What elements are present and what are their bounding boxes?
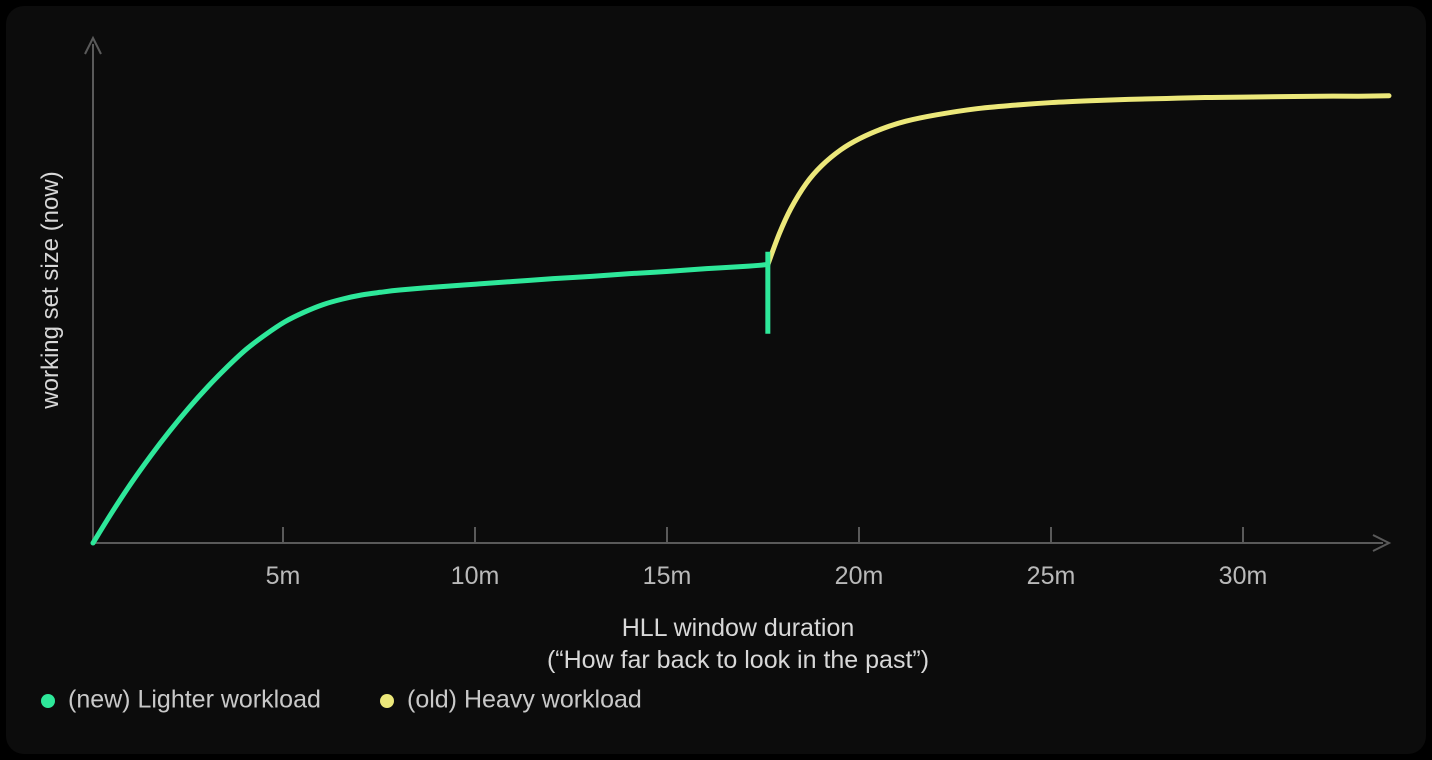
y-axis-title: working set size (now) bbox=[37, 171, 64, 409]
x-axis bbox=[93, 535, 1389, 551]
legend-dot-icon-lighter-workload bbox=[41, 694, 55, 708]
x-axis-title-line1: HLL window duration bbox=[622, 614, 855, 642]
x-tick-label-5: 30m bbox=[1219, 562, 1268, 590]
y-axis bbox=[85, 38, 101, 543]
x-axis-tick-marks bbox=[283, 527, 1243, 543]
x-axis-tick-labels: 5m 10m 15m 20m 25m 30m bbox=[266, 562, 1268, 590]
series-line-lighter-workload bbox=[93, 265, 768, 543]
chart-card: 5m 10m 15m 20m 25m 30m working set size … bbox=[6, 6, 1426, 754]
series-line-heavy-workload bbox=[768, 96, 1389, 265]
x-tick-label-1: 10m bbox=[451, 562, 500, 590]
x-tick-label-0: 5m bbox=[266, 562, 301, 590]
legend-label-heavy-workload: (old) Heavy workload bbox=[407, 686, 642, 714]
x-tick-label-2: 15m bbox=[643, 562, 692, 590]
x-axis-title: HLL window duration (“How far back to lo… bbox=[547, 614, 929, 674]
x-axis-title-line2: (“How far back to look in the past”) bbox=[547, 646, 929, 674]
chart-plot: 5m 10m 15m 20m 25m 30m working set size … bbox=[6, 6, 1426, 754]
x-tick-label-3: 20m bbox=[835, 562, 884, 590]
chart-legend: (new) Lighter workload (old) Heavy workl… bbox=[41, 686, 642, 714]
x-tick-label-4: 25m bbox=[1027, 562, 1076, 590]
legend-label-lighter-workload: (new) Lighter workload bbox=[68, 686, 321, 714]
legend-dot-icon-heavy-workload bbox=[380, 694, 394, 708]
